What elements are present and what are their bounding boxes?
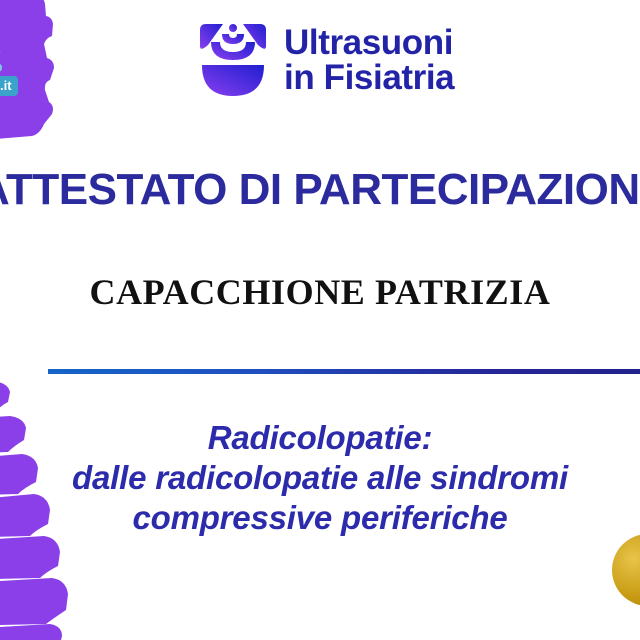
ultrasound-wave-icon [196, 22, 270, 98]
brand-logo-line2: in Fisiatria [284, 60, 454, 95]
brand-logo-line1: Ultrasuoni [284, 23, 453, 62]
gold-seal-icon [612, 534, 640, 606]
participant-name: CAPACCHIONE PATRIZIA [0, 271, 640, 313]
course-title-line2: dalle radicolopatie alle sindromi [0, 458, 640, 498]
watermark-subword-fragment: co [0, 60, 3, 76]
certificate-canvas: a co .it Ultrasuoni in Fisia [0, 0, 640, 640]
course-title-line1: Radicolopatie: [0, 418, 640, 458]
course-title-line3: compressive periferiche [0, 498, 640, 538]
brand-logo-text: Ultrasuoni in Fisiatria [284, 25, 454, 95]
certificate-title: ATTESTATO DI PARTECIPAZIONE [0, 166, 640, 214]
brand-logo: Ultrasuoni in Fisiatria [196, 22, 454, 98]
watermark-domain-badge: .it [0, 76, 18, 96]
spine-vertebrae-silhouette-icon [0, 382, 76, 640]
vertebra-silhouette-icon [0, 0, 70, 144]
course-title: Radicolopatie: dalle radicolopatie alle … [0, 418, 640, 538]
divider-rule [48, 369, 640, 374]
